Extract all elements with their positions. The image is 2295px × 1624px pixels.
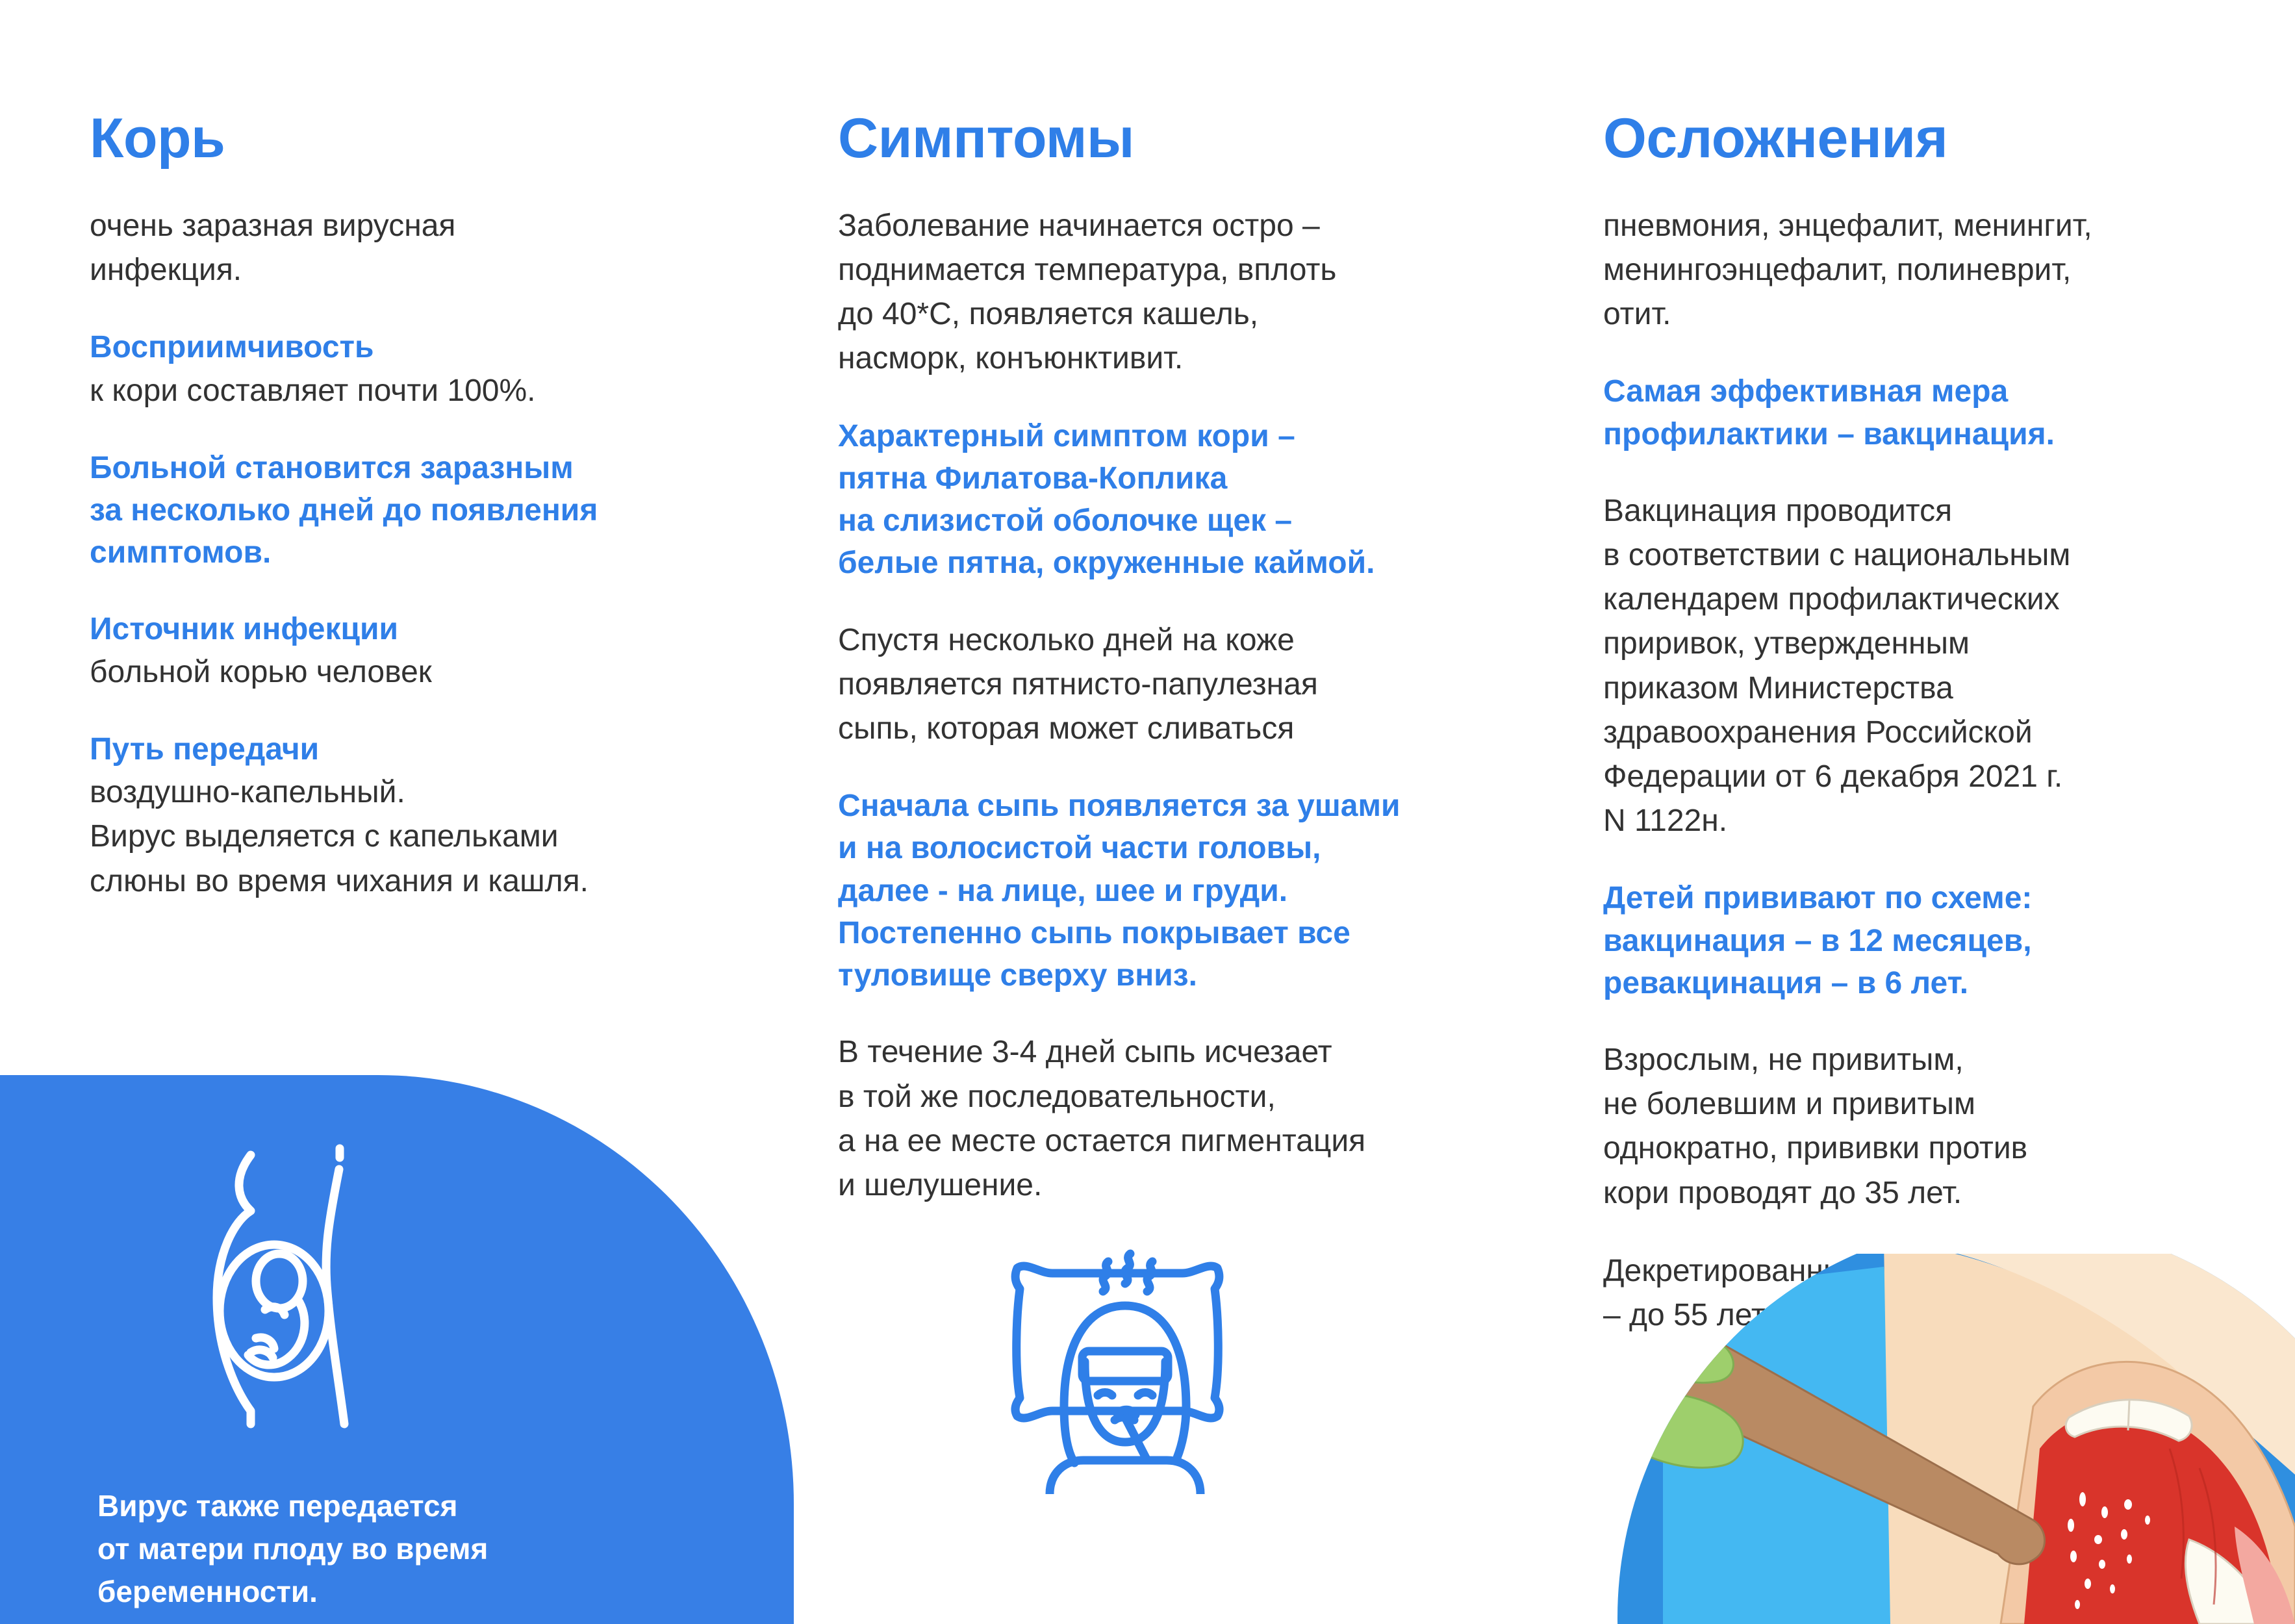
throat-examination-illustration (1585, 1254, 2295, 1624)
column-symptoms: Симптомы Заболевание начинается остро –п… (838, 110, 1494, 1208)
block-rash-appearance: Спустя несколько дней на кожепоявляется … (838, 618, 1494, 751)
column-complications: Осложнения пневмония, энцефалит, менинги… (1603, 110, 2253, 1338)
block-vaccination-regulation: Вакцинация проводитсяв соответствии с на… (1603, 489, 2253, 843)
throat-examination-svg (1585, 1254, 2295, 1624)
body-rash-resolution: В течение 3-4 дней сыпь исчезаетв той же… (838, 1030, 1494, 1208)
body-rash-appearance: Спустя несколько дней на кожепоявляется … (838, 618, 1494, 751)
block-prevention-lead: Самая эффективная мерапрофилактики – вак… (1603, 370, 2253, 455)
column-measles: Корь очень заразная вируснаяинфекция. Во… (90, 110, 746, 904)
body-vaccination-regulation: Вакцинация проводитсяв соответствии с на… (1603, 489, 2253, 843)
intro-text: очень заразная вируснаяинфекция. (90, 204, 746, 292)
body-infection-source: больной корью человек (90, 650, 746, 694)
block-onset: Заболевание начинается остро –поднимаетс… (838, 204, 1494, 381)
block-koplik-spots: Характерный симптом кори –пятна Филатова… (838, 415, 1494, 585)
body-transmission-route: воздушно-капельный.Вирус выделяется с ка… (90, 770, 746, 903)
pregnancy-transmission-panel: Вирус также передаетсяот матери плоду во… (0, 1075, 794, 1624)
lead-prevention: Самая эффективная мерапрофилактики – вак… (1603, 370, 2253, 455)
sick-person-in-bed-icon (987, 1221, 1247, 1494)
block-child-schedule: Детей прививают по схеме:вакцинация – в … (1603, 877, 2253, 1004)
page-title-measles: Корь (90, 110, 746, 166)
block-rash-resolution: В течение 3-4 дней сыпь исчезаетв той же… (838, 1030, 1494, 1208)
block-complication-list: пневмония, энцефалит, менингит,менингоэн… (1603, 204, 2253, 336)
block-adult-schedule: Взрослым, не привитым,не болевшим и прив… (1603, 1038, 2253, 1215)
tooth-divider (2128, 1401, 2129, 1430)
lead-infection-source: Источник инфекции (90, 608, 746, 650)
measles-infographic-poster: Корь очень заразная вируснаяинфекция. Во… (0, 0, 2295, 1624)
body-adult-schedule: Взрослым, не привитым,не болевшим и прив… (1603, 1038, 2253, 1215)
block-infection-source: Источник инфекции больной корью человек (90, 608, 746, 694)
lead-rash-spread: Сначала сыпь появляется за ушамии на вол… (838, 785, 1494, 996)
block-susceptibility: Восприимчивость к кори составляет почти … (90, 326, 746, 412)
lead-child-schedule: Детей прививают по схеме:вакцинация – в … (1603, 877, 2253, 1004)
lead-contagious-period: Больной становится заразнымза несколько … (90, 447, 746, 574)
pregnancy-fetus-icon (188, 1143, 409, 1436)
throat-scene (1585, 1254, 2295, 1624)
block-transmission-route: Путь передачи воздушно-капельный.Вирус в… (90, 728, 746, 904)
lead-koplik-spots: Характерный симптом кори –пятна Филатова… (838, 415, 1494, 585)
block-rash-spread: Сначала сыпь появляется за ушамии на вол… (838, 785, 1494, 996)
lead-susceptibility: Восприимчивость (90, 326, 746, 368)
body-susceptibility: к кори составляет почти 100%. (90, 369, 746, 413)
page-title-symptoms: Симптомы (838, 110, 1494, 166)
intro-block: очень заразная вируснаяинфекция. (90, 204, 746, 292)
page-title-complications: Осложнения (1603, 110, 2253, 166)
sick-person-in-bed-icon-svg (987, 1221, 1247, 1494)
body-onset: Заболевание начинается остро –поднимаетс… (838, 204, 1494, 381)
lead-transmission-route: Путь передачи (90, 728, 746, 770)
body-complication-list: пневмония, энцефалит, менингит,менингоэн… (1603, 204, 2253, 336)
pregnancy-fetus-icon-svg (188, 1143, 409, 1436)
panel-caption: Вирус также передаетсяот матери плоду во… (97, 1484, 702, 1614)
glove-finger-upper (1645, 1330, 1733, 1382)
block-contagious-period: Больной становится заразнымза несколько … (90, 447, 746, 574)
